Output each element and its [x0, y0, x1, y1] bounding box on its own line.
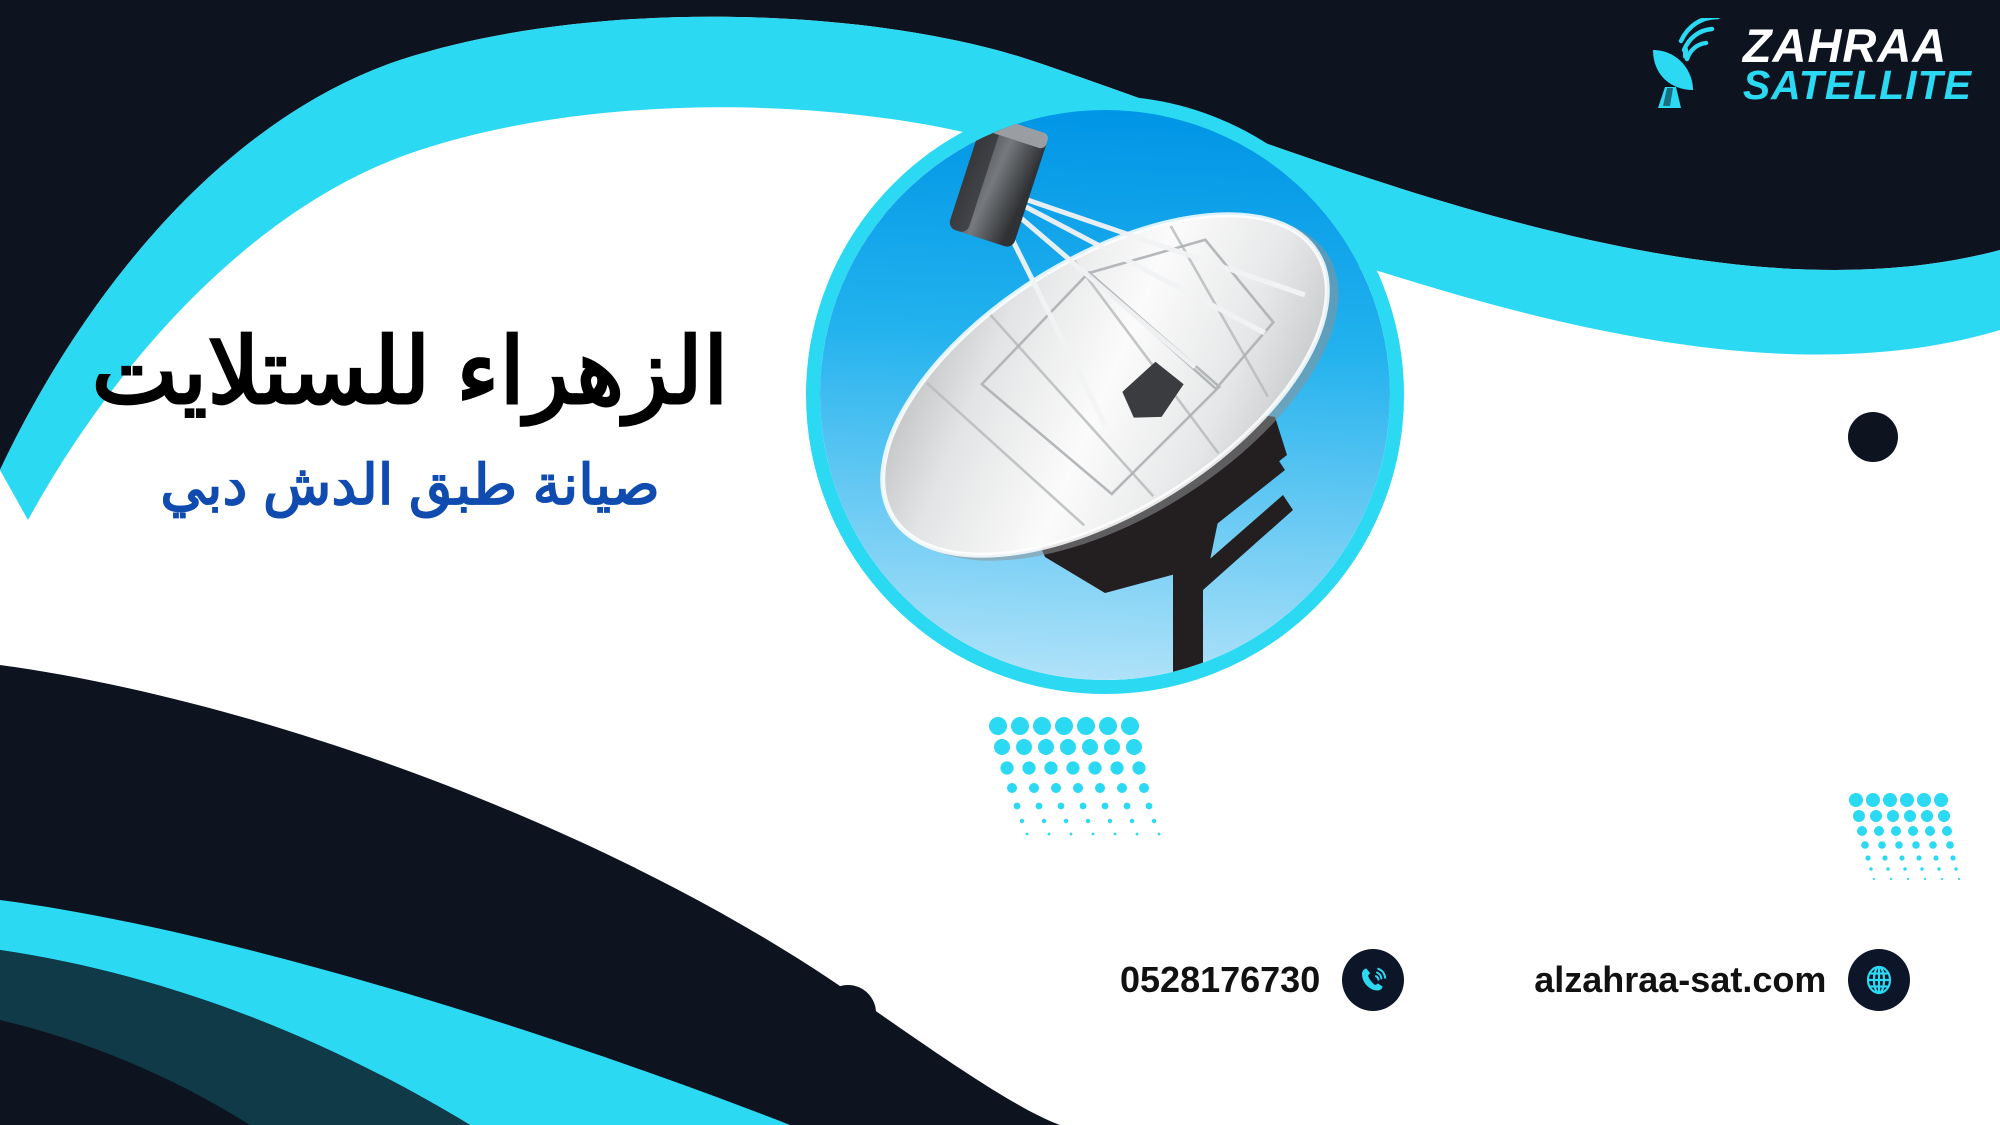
- globe-icon-badge: [1848, 949, 1910, 1011]
- logo-bottom-line: SATELLITE: [1743, 67, 1972, 105]
- promo-banner: ZAHRAA SATELLITE الزهراء للستلايت صيانة …: [0, 0, 2000, 1125]
- brand-logo[interactable]: ZAHRAA SATELLITE: [1643, 18, 1972, 110]
- website-url: alzahraa-sat.com: [1534, 959, 1826, 1001]
- satellite-dish-icon: [1643, 18, 1729, 110]
- logo-top-line: ZAHRAA: [1743, 24, 1972, 67]
- phone-ringing-icon: [1356, 963, 1390, 997]
- globe-icon: [1862, 963, 1896, 997]
- phone-icon-badge: [1342, 949, 1404, 1011]
- headline-block: الزهراء للستلايت صيانة طبق الدش دبي: [0, 318, 820, 518]
- halftone-dot-grid-right: [1849, 793, 1960, 880]
- page-title: الزهراء للستلايت: [0, 318, 820, 427]
- halftone-dot-grid-left: [989, 717, 1160, 835]
- page-subtitle: صيانة طبق الدش دبي: [0, 451, 820, 518]
- split-circle-motif-right: [1848, 412, 1926, 462]
- logo-wordmark: ZAHRAA SATELLITE: [1743, 24, 1972, 105]
- satellite-dish-illustration: [805, 95, 1405, 695]
- contact-phone[interactable]: 0528176730: [1120, 949, 1404, 1011]
- phone-number: 0528176730: [1120, 959, 1320, 1001]
- contact-website[interactable]: alzahraa-sat.com: [1534, 949, 1910, 1011]
- contact-row: 0528176730 alzahraa-sat.com: [1120, 925, 1960, 1035]
